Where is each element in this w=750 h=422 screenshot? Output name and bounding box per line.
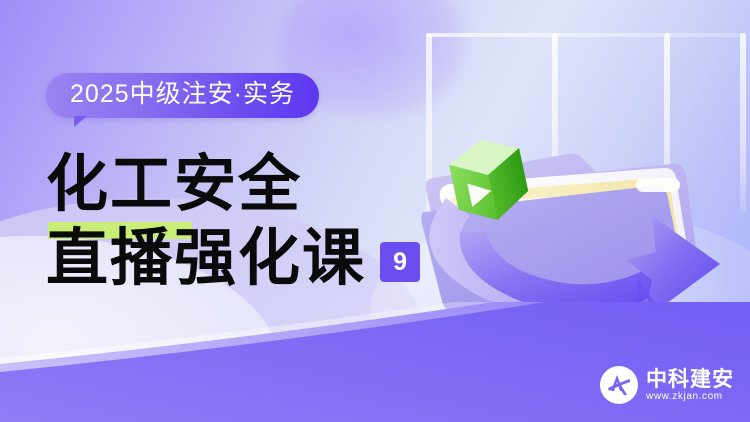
course-promo-banner: 2025中级注安·实务 化工安全 直播强化课 9 中科建安 www.zkjan.…: [0, 0, 750, 422]
logo-mark-icon: [600, 366, 638, 404]
episode-number-badge: 9: [380, 242, 420, 282]
brand-logo: 中科建安 www.zkjan.com: [600, 366, 734, 404]
logo-brand-name: 中科建安: [646, 369, 734, 390]
headline-block: 化工安全 直播强化课 9: [46, 148, 420, 296]
folder-tab-handle: [636, 178, 680, 192]
headline-line-2-row: 直播强化课 9: [46, 222, 420, 296]
logo-text-block: 中科建安 www.zkjan.com: [646, 369, 734, 402]
headline-line-1: 化工安全: [46, 148, 302, 222]
logo-website-url: www.zkjan.com: [646, 392, 734, 402]
course-category-tag-label: 2025中级注安·实务: [46, 73, 319, 118]
panel-line-horizontal: [426, 33, 746, 37]
tag-tail-icon: [74, 116, 87, 127]
headline-line-1-row: 化工安全: [46, 148, 420, 222]
headline-line-2: 直播强化课: [46, 222, 366, 296]
course-category-tag: 2025中级注安·实务: [46, 73, 319, 118]
bottom-wave-band: [0, 302, 750, 422]
